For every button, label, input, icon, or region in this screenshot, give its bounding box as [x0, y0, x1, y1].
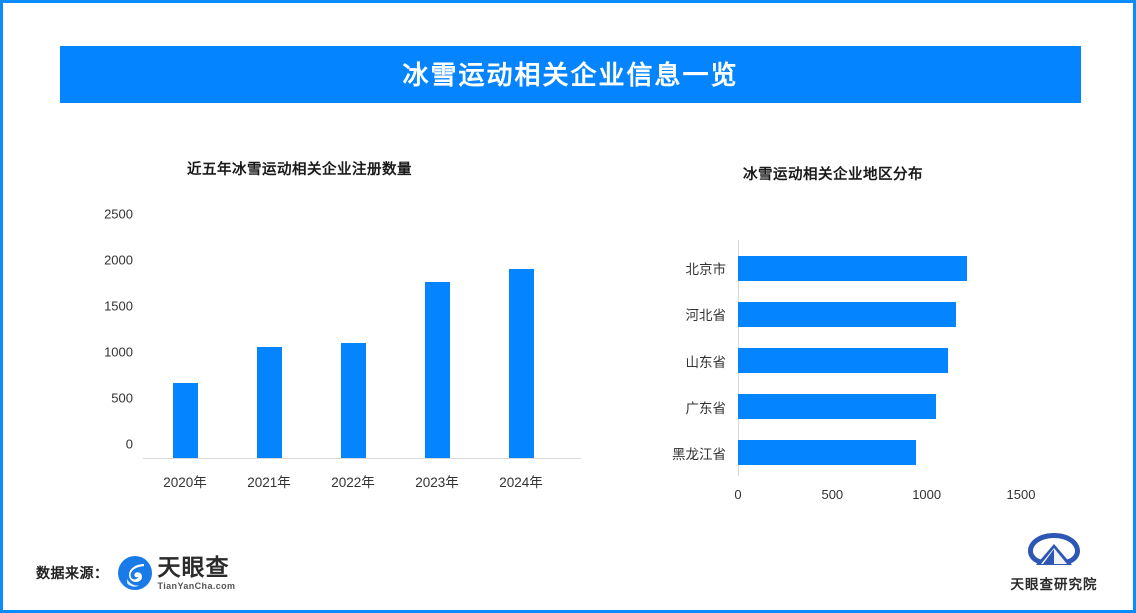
- category-label: 北京市: [686, 258, 727, 278]
- vertical-bar: [425, 282, 450, 458]
- vertical-bar: [509, 269, 534, 458]
- y-axis-tick: 2000: [104, 253, 133, 268]
- vertical-bar-series: [143, 228, 563, 458]
- horizontal-bar-series: 北京市河北省山东省广东省黑龙江省: [738, 245, 1021, 476]
- x-axis-tick-label: 1500: [1007, 487, 1036, 502]
- bar-row: 广东省: [738, 384, 1021, 430]
- bar-row: 北京市: [738, 245, 1021, 291]
- y-axis-tick: 2500: [104, 207, 133, 222]
- horizontal-bar: [738, 440, 916, 465]
- x-axis-tick-label: 0: [734, 487, 741, 502]
- tianyancha-logo: 天眼查 TianYanCha.com: [117, 555, 236, 591]
- data-source-label: 数据来源：: [36, 563, 109, 583]
- category-label: 广东省: [686, 397, 727, 417]
- vertical-bar: [341, 343, 366, 458]
- infographic-page: 冰雪运动相关企业信息一览 近五年冰雪运动相关企业注册数量 0 500 1000 …: [0, 0, 1136, 613]
- tianyancha-domain-text: TianYanCha.com: [158, 582, 236, 591]
- bar-slot: [311, 228, 395, 458]
- horizontal-bar: [738, 348, 948, 373]
- horizontal-bar: [738, 394, 936, 419]
- x-axis-labels: 2020年2021年2022年2023年2024年: [143, 471, 563, 491]
- left-chart-title: 近五年冰雪运动相关企业注册数量: [187, 158, 412, 179]
- y-axis-tick: 500: [111, 391, 133, 406]
- bar-slot: [395, 228, 479, 458]
- research-institute-name: 天眼查研究院: [1011, 573, 1098, 593]
- x-axis-ticks: 050010001500: [738, 487, 1021, 505]
- right-chart-plot-area: 北京市河北省山东省广东省黑龙江省 050010001500: [738, 245, 1021, 476]
- horizontal-bar: [738, 256, 967, 281]
- bar-slot: [143, 228, 227, 458]
- research-institute-brand: 天眼查研究院: [1006, 531, 1102, 593]
- x-axis-label: 2022年: [311, 471, 395, 491]
- tianyancha-brand-text: 天眼查: [158, 556, 230, 579]
- bar-slot: [227, 228, 311, 458]
- tianyancha-eye-icon: [117, 555, 153, 591]
- x-axis-label: 2021年: [227, 471, 311, 491]
- registration-count-chart: 近五年冰雪运动相关企业注册数量 0 500 1000 1500 2000 250…: [3, 3, 603, 613]
- y-axis-tick: 0: [126, 437, 133, 452]
- vertical-bar: [173, 383, 198, 458]
- bar-row: 山东省: [738, 337, 1021, 383]
- category-label: 河北省: [686, 304, 727, 324]
- vertical-bar: [257, 347, 282, 458]
- horizontal-bar: [738, 302, 956, 327]
- bar-row: 河北省: [738, 291, 1021, 337]
- right-chart-title: 冰雪运动相关企业地区分布: [743, 163, 923, 184]
- x-axis-line: [143, 458, 581, 459]
- bar-row: 黑龙江省: [738, 430, 1021, 476]
- bar-slot: [479, 228, 563, 458]
- data-source: 数据来源： 天眼查 TianYanCha.com: [36, 555, 235, 591]
- x-axis-label: 2024年: [479, 471, 563, 491]
- x-axis-label: 2020年: [143, 471, 227, 491]
- category-label: 山东省: [686, 351, 727, 371]
- regional-distribution-chart: 冰雪运动相关企业地区分布 北京市河北省山东省广东省黑龙江省 0500100015…: [603, 3, 1136, 613]
- x-axis-label: 2023年: [395, 471, 479, 491]
- y-axis-tick: 1500: [104, 299, 133, 314]
- research-institute-icon: [1023, 531, 1085, 571]
- tianyancha-wordmark: 天眼查 TianYanCha.com: [158, 556, 236, 591]
- x-axis-tick-label: 1000: [912, 487, 941, 502]
- left-chart-plot-area: 0 500 1000 1500 2000 2500 2020年2021年2022…: [143, 228, 563, 459]
- x-axis-tick-label: 500: [821, 487, 843, 502]
- category-label: 黑龙江省: [672, 443, 726, 463]
- y-axis-tick: 1000: [104, 345, 133, 360]
